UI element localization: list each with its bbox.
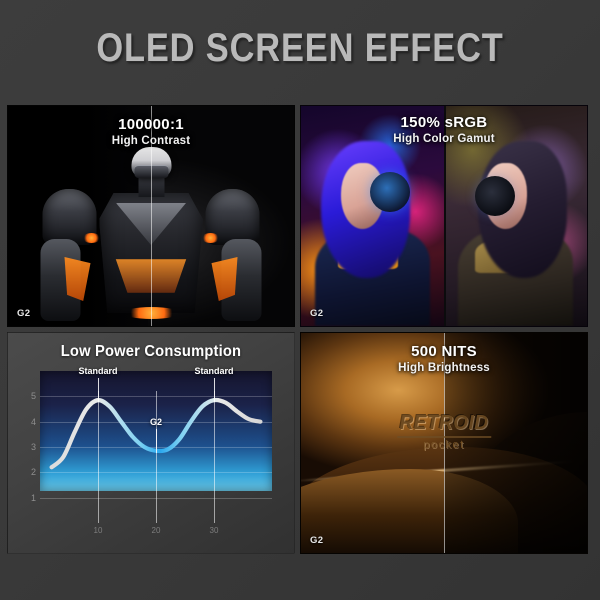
page-title: OLED SCREEN EFFECT — [42, 26, 558, 71]
chart-y-tick-label: 4 — [31, 417, 36, 427]
chart-annotation-stem — [98, 378, 99, 402]
chart-annotation-label: Standard — [194, 366, 233, 376]
retroid-wordmark: RETROID — [400, 412, 489, 435]
panel-high-contrast[interactable]: 100000:1 High Contrast G2 — [7, 105, 295, 327]
chart-y-tick-label: 3 — [31, 442, 36, 452]
pocket-wordmark: pocket — [397, 439, 491, 451]
contrast-watermark-g2: G2 — [17, 308, 30, 319]
chart-annotation-label: G2 — [150, 417, 162, 427]
gamut-watermark-g2: G2 — [310, 308, 323, 319]
chart-y-tick-label: 2 — [31, 467, 36, 477]
chart-annotation-label: Standard — [78, 366, 117, 376]
panel-low-power[interactable]: Low Power Consumption 54321102030 — [7, 332, 295, 554]
chart-x-tick-label: 30 — [210, 526, 219, 535]
retroid-pocket-logo: RETROID pocket — [397, 412, 491, 451]
contrast-split-line — [151, 106, 152, 326]
chart-y-tick-label: 5 — [31, 391, 36, 401]
chart-x-tick-label: 10 — [94, 526, 103, 535]
panel-color-gamut[interactable]: 150% sRGB High Color Gamut G2 — [300, 105, 588, 327]
retroid-logo-bar — [397, 436, 491, 438]
chart-x-tick-label: 20 — [152, 526, 161, 535]
gamut-dull-half — [444, 106, 587, 326]
chart-annotation-stem — [156, 429, 157, 453]
power-chart: 54321102030 StandardG2Standard — [8, 333, 294, 553]
brightness-watermark-g2: G2 — [310, 535, 323, 546]
chart-annotation-stem — [214, 378, 215, 402]
feature-panel-grid: 100000:1 High Contrast G2 — [7, 105, 593, 554]
gamut-split-line — [444, 106, 446, 326]
chart-y-tick-label: 1 — [31, 493, 36, 503]
panel-high-brightness[interactable]: RETROID pocket 500 NITS High Brightness … — [300, 332, 588, 554]
gamut-vivid-half — [301, 106, 444, 326]
